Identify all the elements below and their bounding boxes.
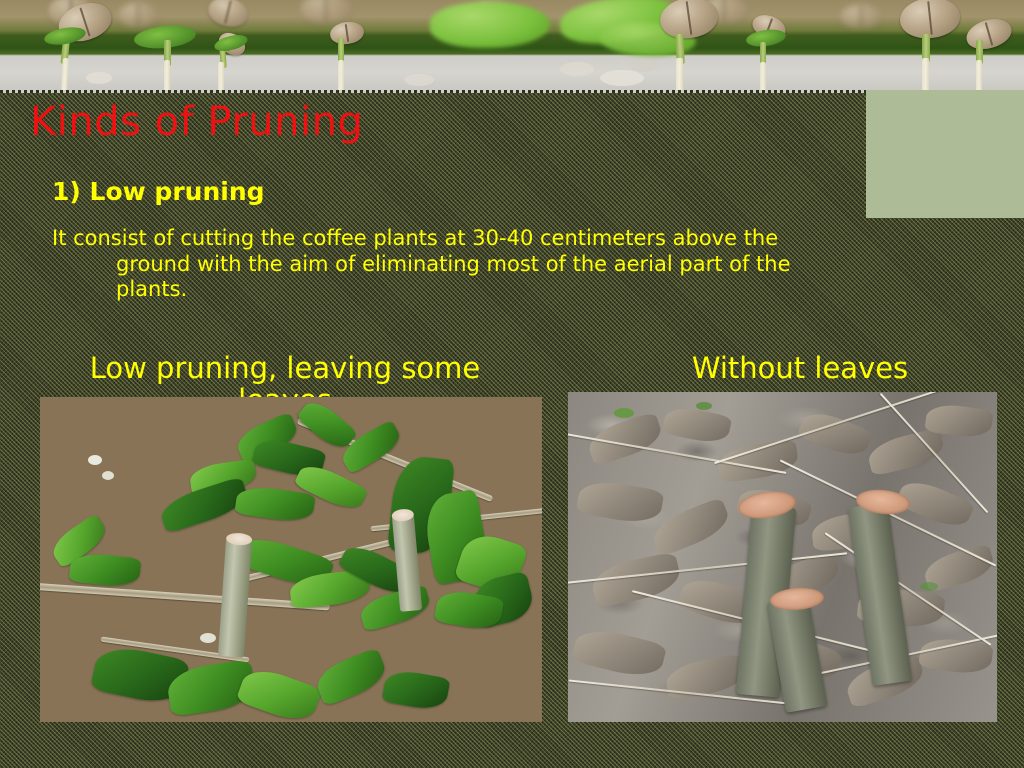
body-line-1: It consist of cutting the coffee plants …: [52, 226, 778, 250]
caption-right: Without leaves: [600, 352, 1000, 384]
low-pruned-coffee-without-leaves-photo: [568, 392, 997, 722]
subheading-low-pruning: 1) Low pruning: [52, 177, 265, 206]
decorative-sage-block: [866, 90, 1024, 218]
body-paragraph: It consist of cutting the coffee plants …: [52, 226, 952, 303]
coffee-seedlings-banner: [0, 0, 1024, 93]
low-pruned-coffee-with-leaves-photo: [40, 397, 542, 722]
body-line-3: plants.: [52, 277, 952, 303]
presentation-slide: Kinds of Pruning 1) Low pruning It consi…: [0, 0, 1024, 768]
body-line-2: ground with the aim of eliminating most …: [52, 252, 952, 278]
slide-title: Kinds of Pruning: [30, 99, 363, 145]
